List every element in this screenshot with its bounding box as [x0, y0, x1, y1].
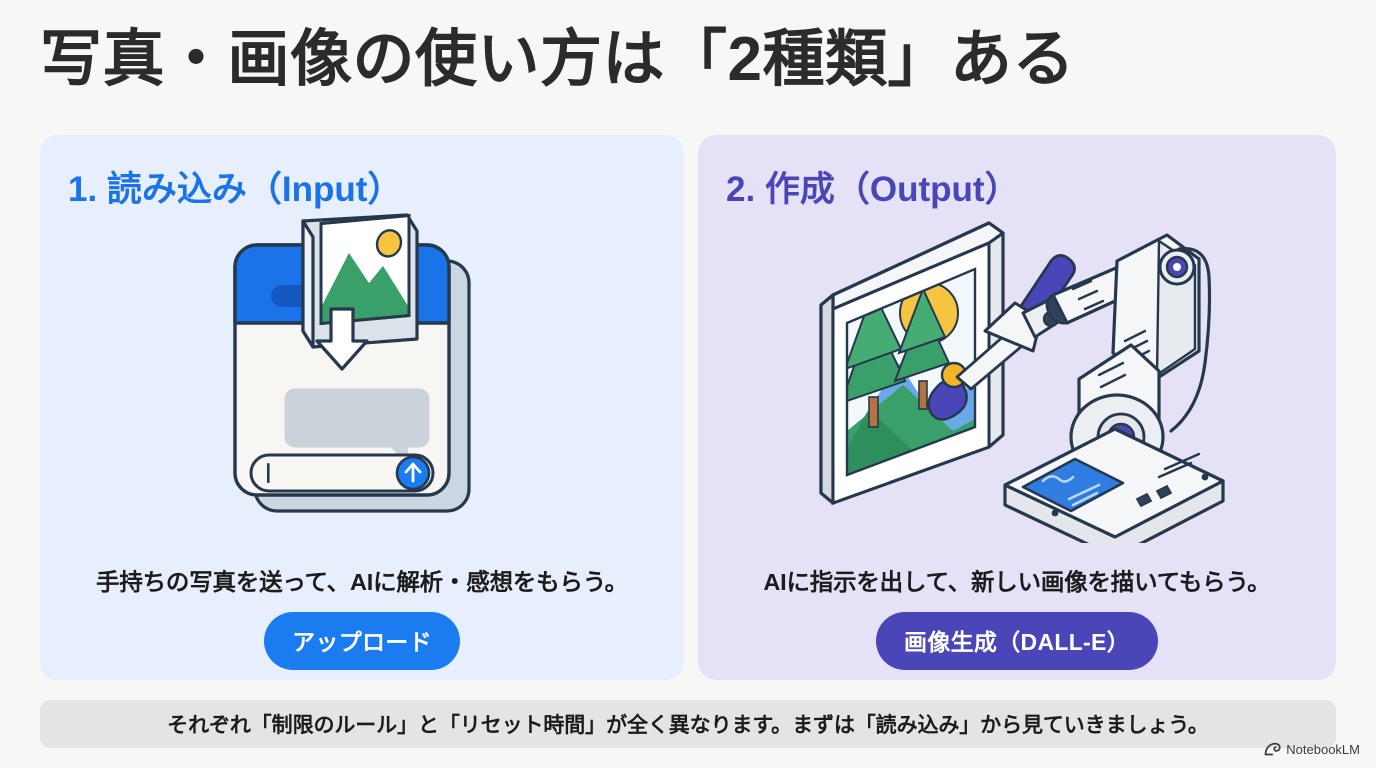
- footer-text: それぞれ「制限のルール」と「リセット時間」が全く異なります。まずは「読み込み」か…: [167, 709, 1209, 739]
- card-output-pill-wrap: 画像生成（DALL-E）: [698, 612, 1336, 670]
- robot-arm-painting-canvas-illustration: [698, 213, 1336, 558]
- page-title: 写真・画像の使い方は「2種類」ある: [40, 24, 1075, 95]
- card-output: 2. 作成（Output）: [698, 135, 1336, 680]
- brand-notebooklm: NotebookLM: [1264, 742, 1360, 757]
- upload-button[interactable]: アップロード: [264, 612, 460, 670]
- slide-root: 写真・画像の使い方は「2種類」ある 1. 読み込み（Input）: [0, 0, 1376, 768]
- robot-paint-illustration-svg: [807, 213, 1227, 543]
- card-input: 1. 読み込み（Input）: [40, 135, 684, 680]
- card-output-caption: AIに指示を出して、新しい画像を描いてもらう。: [714, 563, 1320, 597]
- card-input-pill-wrap: アップロード: [40, 612, 684, 670]
- photo-card-icon: [303, 215, 417, 347]
- robot-base-platform: [1005, 429, 1223, 543]
- card-output-title: 2. 作成（Output）: [726, 161, 1020, 212]
- brand-name: NotebookLM: [1286, 742, 1360, 757]
- chat-window-image-upload-illustration: [40, 213, 684, 558]
- card-input-caption: 手持ちの写真を送って、AIに解析・感想をもらう。: [56, 563, 668, 597]
- generate-image-button[interactable]: 画像生成（DALL-E）: [876, 612, 1158, 670]
- upload-illustration-svg: [217, 213, 507, 543]
- card-input-title: 1. 読み込み（Input）: [68, 161, 402, 212]
- footer-bar: それぞれ「制限のルール」と「リセット時間」が全く異なります。まずは「読み込み」か…: [40, 700, 1336, 748]
- notebooklm-spiral-icon: [1264, 742, 1281, 757]
